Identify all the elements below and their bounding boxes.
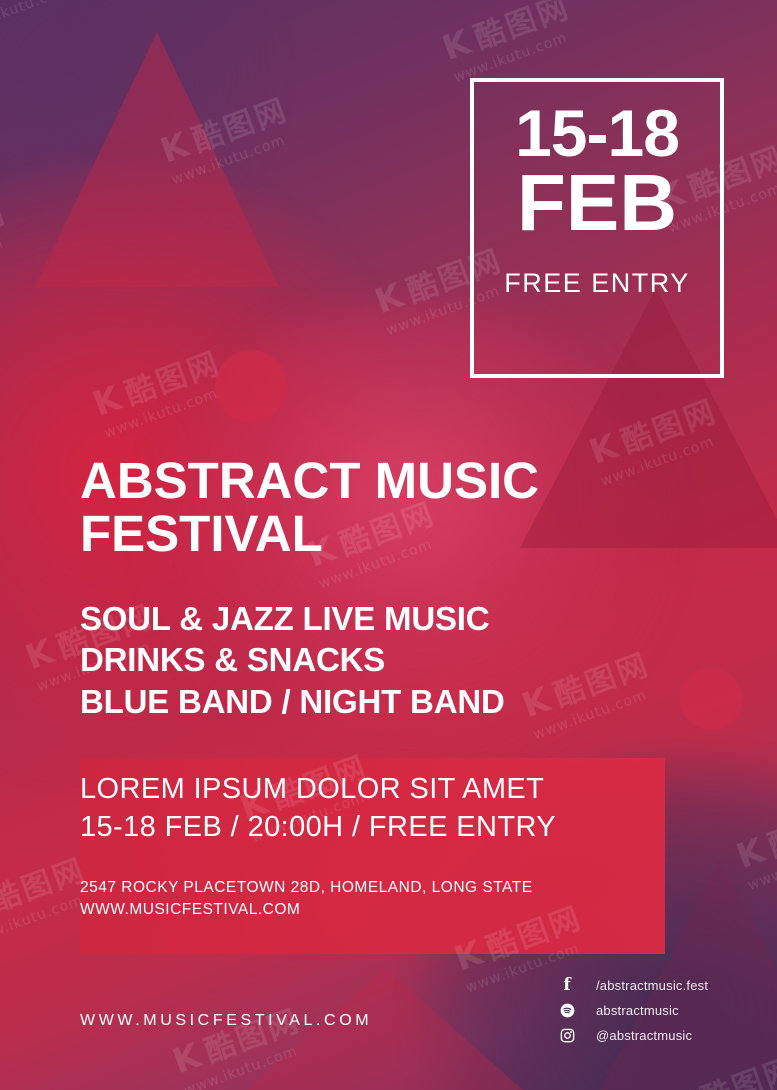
triangle-shape-top-left xyxy=(35,32,279,287)
main-content: ABSTRACT MUSIC FESTIVAL SOUL & JAZZ LIVE… xyxy=(80,455,700,921)
spotify-icon xyxy=(556,1003,578,1018)
date-box: 15-18 FEB FREE ENTRY xyxy=(470,78,724,378)
subtitle-line: BLUE BAND / NIGHT BAND xyxy=(80,681,700,722)
date-range: 15-18 xyxy=(474,102,720,164)
instagram-handle: @abstractmusic xyxy=(596,1028,692,1043)
detail-line: LOREM IPSUM DOLOR SIT AMET xyxy=(80,770,700,809)
instagram-icon xyxy=(556,1028,578,1043)
social-links: f /abstractmusic.fest abstractmusic xyxy=(556,975,708,1050)
details-block: LOREM IPSUM DOLOR SIT AMET 15-18 FEB / 2… xyxy=(80,770,700,847)
facebook-icon: f xyxy=(556,977,578,994)
facebook-handle: /abstractmusic.fest xyxy=(596,978,708,993)
detail-line: 15-18 FEB / 20:00H / FREE ENTRY xyxy=(80,808,700,847)
poster-canvas: K酷图网www.ikutu.comK酷图网www.ikutu.comK酷图网ww… xyxy=(0,0,777,1090)
social-row-facebook[interactable]: f /abstractmusic.fest xyxy=(556,975,708,996)
free-entry-label: FREE ENTRY xyxy=(474,268,720,299)
subtitle-line: SOUL & JAZZ LIVE MUSIC xyxy=(80,598,700,639)
address-website-line: WWW.MUSICFESTIVAL.COM xyxy=(80,899,700,921)
festival-title-line-1: ABSTRACT MUSIC xyxy=(80,455,700,508)
festival-title: ABSTRACT MUSIC FESTIVAL xyxy=(80,455,700,560)
address-block: 2547 ROCKY PLACETOWN 28D, HOMELAND, LONG… xyxy=(80,877,700,921)
address-line: 2547 ROCKY PLACETOWN 28D, HOMELAND, LONG… xyxy=(80,877,700,899)
spotify-handle: abstractmusic xyxy=(596,1003,679,1018)
footer-website: WWW.MUSICFESTIVAL.COM xyxy=(80,1012,372,1030)
festival-title-line-2: FESTIVAL xyxy=(80,508,700,561)
social-row-spotify[interactable]: abstractmusic xyxy=(556,1000,708,1021)
date-month: FEB xyxy=(474,166,720,240)
subtitle-block: SOUL & JAZZ LIVE MUSIC DRINKS & SNACKS B… xyxy=(80,598,700,722)
social-row-instagram[interactable]: @abstractmusic xyxy=(556,1025,708,1046)
subtitle-line: DRINKS & SNACKS xyxy=(80,639,700,680)
circle-shape-left xyxy=(215,350,287,422)
